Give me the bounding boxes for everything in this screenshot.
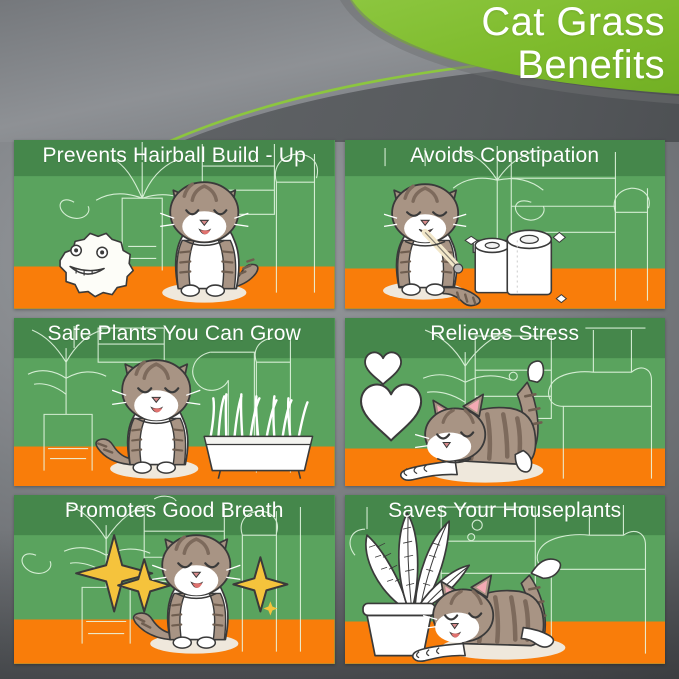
panel-houseplants-caption: Saves Your Houseplants (345, 499, 666, 523)
benefits-grid: Prevents Hairball Build - Up (14, 140, 665, 664)
panel-breath[interactable]: Promotes Good Breath (14, 495, 335, 664)
title-line-1: Cat Grass (235, 2, 665, 43)
panel-constipation[interactable]: Avoids Constipation (345, 140, 666, 309)
panel-safe-plants-caption: Safe Plants You Can Grow (14, 322, 335, 346)
panel-stress-caption: Relieves Stress (345, 322, 666, 346)
header-banner: Cat Grass Benefits (0, 0, 679, 142)
panel-constipation-caption: Avoids Constipation (345, 144, 666, 168)
panel-houseplants[interactable]: Saves Your Houseplants (345, 495, 666, 664)
title-line-2: Benefits (235, 45, 665, 86)
panel-stress[interactable]: Relieves Stress (345, 318, 666, 487)
panel-hairball-caption: Prevents Hairball Build - Up (14, 144, 335, 168)
panel-safe-plants[interactable]: Safe Plants You Can Grow (14, 318, 335, 487)
page-title: Cat Grass Benefits (235, 2, 665, 86)
panel-breath-caption: Promotes Good Breath (14, 499, 335, 523)
panel-hairball[interactable]: Prevents Hairball Build - Up (14, 140, 335, 309)
